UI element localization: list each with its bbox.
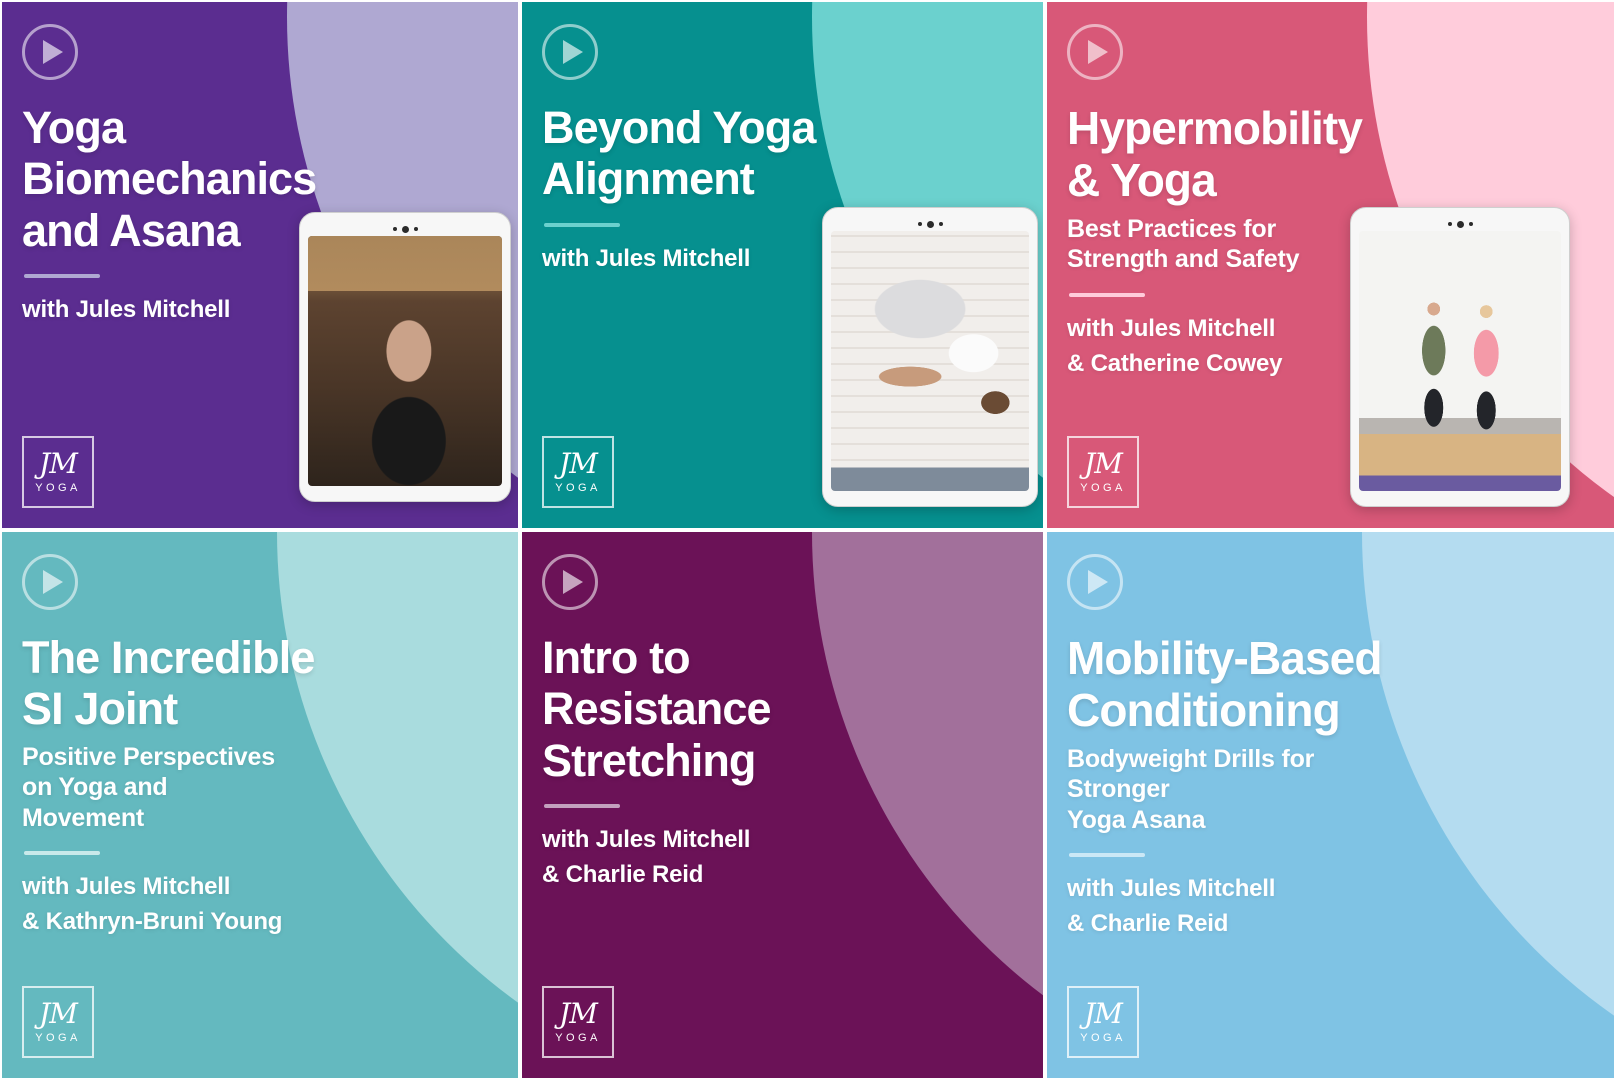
logo-wordmark: YOGA [35, 482, 80, 494]
jm-yoga-logo: JM YOGA [22, 436, 94, 508]
logo-wordmark: YOGA [35, 1032, 80, 1044]
title-divider [544, 223, 620, 227]
tablet-device-mockup [822, 207, 1038, 507]
tablet-device-mockup [299, 212, 511, 502]
jm-yoga-logo: JM YOGA [22, 986, 94, 1058]
camera-dot [918, 222, 922, 226]
tablet-camera-dots [308, 222, 502, 236]
card-text-block: Mobility-Based Conditioning Bodyweight D… [1067, 632, 1417, 941]
jm-yoga-logo: JM YOGA [542, 986, 614, 1058]
card-title: Mobility-Based Conditioning [1067, 632, 1417, 737]
card-subtitle: Positive Perspectives on Yoga and Moveme… [22, 742, 352, 834]
card-title: Beyond Yoga Alignment [542, 102, 872, 205]
course-card-hypermobility-and-yoga[interactable]: Hypermobility & Yoga Best Practices for … [1045, 0, 1616, 530]
logo-monogram: JM [1084, 1000, 1122, 1028]
play-circle-icon[interactable] [22, 24, 78, 80]
title-divider [544, 804, 620, 808]
course-card-beyond-yoga-alignment[interactable]: Beyond Yoga Alignment with Jules Mitchel… [520, 0, 1045, 530]
camera-lens-dot [1457, 221, 1464, 228]
play-triangle-icon [563, 570, 583, 594]
title-divider [1069, 293, 1145, 297]
card-text-block: Intro to Resistance Stretching with Jule… [542, 632, 872, 892]
thumbnail-subject [831, 231, 1029, 491]
title-divider [24, 274, 100, 278]
card-presenter: with Jules Mitchell & Kathryn-Bruni Youn… [22, 869, 352, 939]
card-title: Intro to Resistance Stretching [542, 632, 872, 786]
card-content: Intro to Resistance Stretching with Jule… [522, 532, 1043, 1078]
logo-wordmark: YOGA [1080, 482, 1125, 494]
logo-wordmark: YOGA [555, 1032, 600, 1044]
logo-monogram: JM [39, 450, 77, 478]
title-divider [1069, 853, 1145, 857]
logo-monogram: JM [559, 1000, 597, 1028]
thumbnail-subject [1359, 231, 1561, 491]
card-subtitle: Bodyweight Drills for Stronger Yoga Asan… [1067, 744, 1417, 836]
course-card-yoga-biomechanics-and-asana[interactable]: Yoga Biomechanics and Asana with Jules M… [0, 0, 520, 530]
video-thumbnail[interactable] [308, 236, 502, 486]
camera-lens-dot [402, 226, 409, 233]
play-circle-icon[interactable] [542, 554, 598, 610]
play-triangle-icon [43, 40, 63, 64]
play-triangle-icon [1088, 570, 1108, 594]
jm-yoga-logo: JM YOGA [1067, 986, 1139, 1058]
spacer [542, 892, 1023, 986]
play-triangle-icon [563, 40, 583, 64]
card-title: The Incredible SI Joint [22, 632, 352, 735]
play-circle-icon[interactable] [1067, 554, 1123, 610]
logo-monogram: JM [559, 450, 597, 478]
logo-wordmark: YOGA [555, 482, 600, 494]
card-presenter: with Jules Mitchell & Charlie Reid [1067, 871, 1417, 941]
play-triangle-icon [43, 570, 63, 594]
logo-monogram: JM [39, 1000, 77, 1028]
spacer [1067, 941, 1594, 986]
card-text-block: The Incredible SI Joint Positive Perspec… [22, 632, 352, 939]
course-card-grid: Yoga Biomechanics and Asana with Jules M… [0, 0, 1616, 1080]
logo-monogram: JM [1084, 450, 1122, 478]
course-card-mobility-based-conditioning[interactable]: Mobility-Based Conditioning Bodyweight D… [1045, 530, 1616, 1080]
tablet-camera-dots [831, 217, 1029, 231]
play-circle-icon[interactable] [1067, 24, 1123, 80]
title-divider [24, 851, 100, 855]
card-presenter: with Jules Mitchell & Charlie Reid [542, 822, 872, 892]
jm-yoga-logo: JM YOGA [1067, 436, 1139, 508]
play-circle-icon[interactable] [542, 24, 598, 80]
card-content: Mobility-Based Conditioning Bodyweight D… [1047, 532, 1614, 1078]
course-card-the-incredible-si-joint[interactable]: The Incredible SI Joint Positive Perspec… [0, 530, 520, 1080]
play-triangle-icon [1088, 40, 1108, 64]
card-content: The Incredible SI Joint Positive Perspec… [2, 532, 518, 1078]
logo-wordmark: YOGA [1080, 1032, 1125, 1044]
tablet-device-mockup [1350, 207, 1570, 507]
jm-yoga-logo: JM YOGA [542, 436, 614, 508]
camera-lens-dot [927, 221, 934, 228]
video-thumbnail[interactable] [1359, 231, 1561, 491]
course-card-intro-to-resistance-stretching[interactable]: Intro to Resistance Stretching with Jule… [520, 530, 1045, 1080]
play-circle-icon[interactable] [22, 554, 78, 610]
video-thumbnail[interactable] [831, 231, 1029, 491]
card-title: Hypermobility & Yoga [1067, 102, 1412, 207]
camera-dot [393, 227, 397, 231]
camera-dot [1448, 222, 1452, 226]
camera-dot [939, 222, 943, 226]
thumbnail-subject [308, 236, 502, 486]
camera-dot [414, 227, 418, 231]
tablet-camera-dots [1359, 217, 1561, 231]
spacer [22, 939, 498, 986]
camera-dot [1469, 222, 1473, 226]
